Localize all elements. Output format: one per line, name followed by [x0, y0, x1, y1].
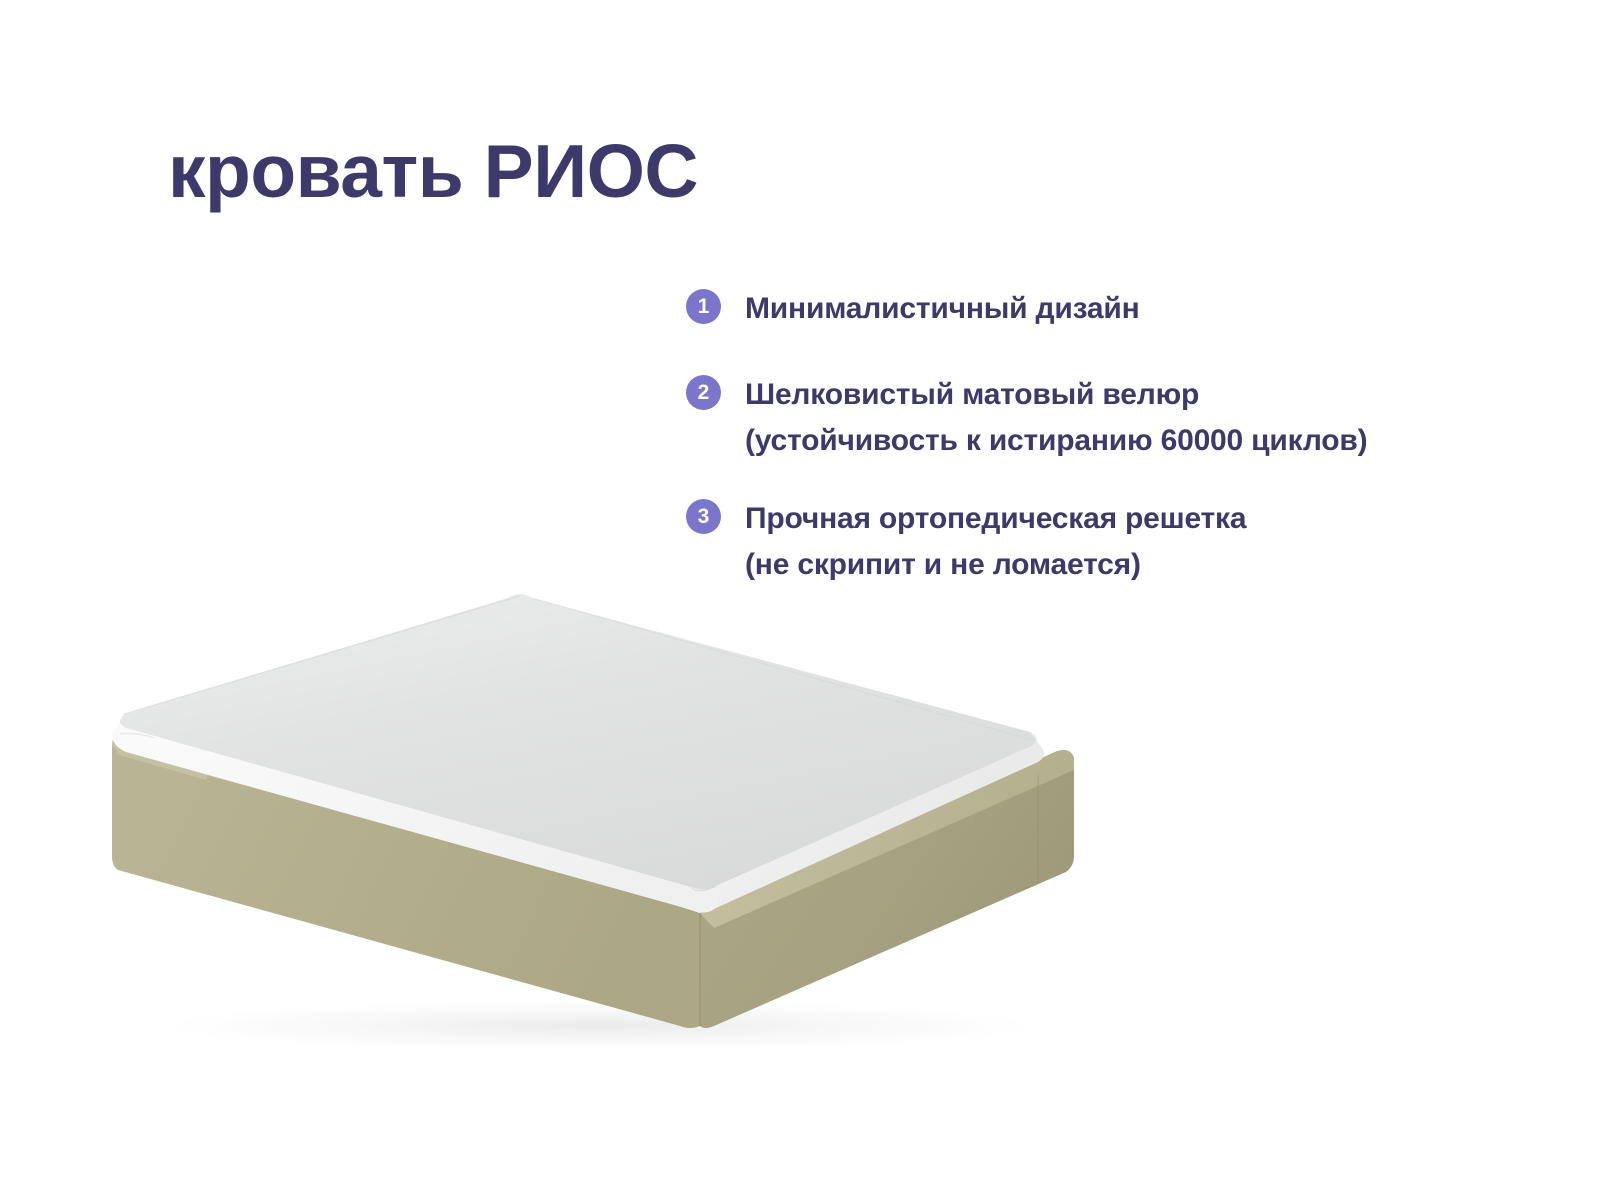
feature-line-2-1: Шелковистый матовый велюр: [745, 372, 1506, 418]
feature-line-3-1: Прочная ортопедическая решетка: [745, 496, 1506, 542]
bed-illustration: [80, 556, 1110, 1076]
feature-badge-3: 3: [686, 499, 721, 534]
infographic-page: кровать РИОС 1 Минималистичный дизайн 2 …: [0, 0, 1600, 1200]
feature-badge-2: 2: [686, 375, 721, 410]
feature-item-1: 1 Минималистичный дизайн: [686, 286, 1506, 332]
feature-item-2: 2 Шелковистый матовый велюр (устойчивост…: [686, 372, 1506, 464]
bed-shadow: [130, 998, 1070, 1054]
page-title: кровать РИОС: [168, 134, 698, 209]
feature-text-1: Минималистичный дизайн: [745, 286, 1506, 332]
feature-list: 1 Минималистичный дизайн 2 Шелковистый м…: [686, 286, 1506, 588]
feature-badge-1: 1: [686, 289, 721, 324]
feature-text-2: Шелковистый матовый велюр (устойчивость …: [745, 372, 1506, 464]
feature-line-2-2: (устойчивость к истиранию 60000 циклов): [745, 418, 1506, 464]
product-image-bed: [80, 556, 1110, 1076]
feature-line-1-1: Минималистичный дизайн: [745, 286, 1506, 332]
